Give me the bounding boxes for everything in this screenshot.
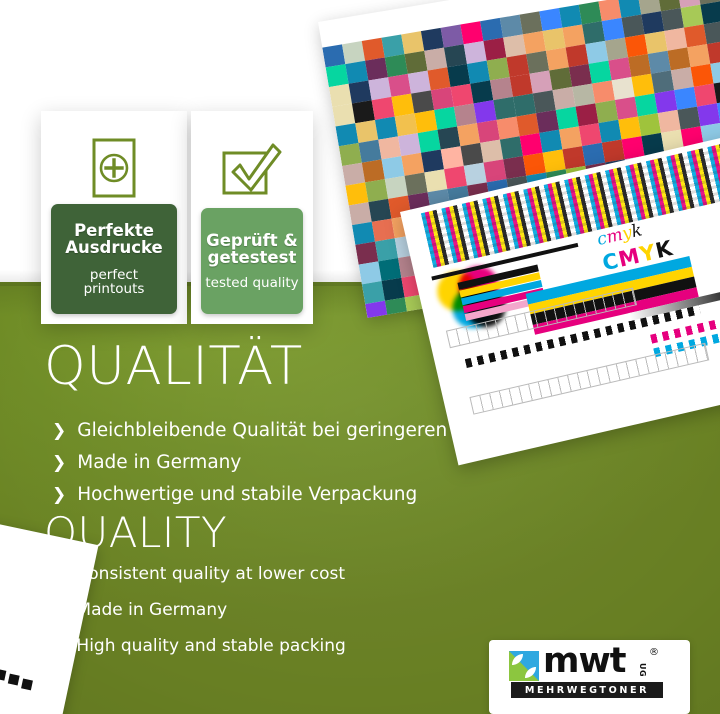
badge-subtitle-en: tested quality — [205, 276, 298, 290]
bl-k-box-1 — [0, 669, 6, 681]
bullet-de-label: Gleichbleibende Qualität bei geringeren … — [77, 422, 515, 441]
bullet-de-label: Hochwertige und stabile Verpackung — [77, 486, 417, 505]
bullet-de-item: ❯Hochwertige und stabile Verpackung — [52, 486, 516, 505]
chevron-right-icon: ❯ — [52, 487, 66, 504]
bullet-en-label: Made in Germany — [76, 602, 227, 619]
promo-banner: cmyk CMYK — [0, 0, 720, 714]
bullet-en-item: ❯Consistent quality at lower cost — [52, 566, 346, 583]
bullet-de-item: ❯Made in Germany — [52, 454, 516, 473]
color-swatch — [707, 41, 720, 64]
bl-k-box-2 — [8, 674, 20, 686]
badge-title-de: Perfekte Ausdrucke — [65, 222, 163, 256]
color-swatch — [700, 1, 720, 24]
bullet-en-item: ❯High quality and stable packing — [52, 638, 346, 655]
chevron-right-icon: ❯ — [52, 566, 65, 582]
chevron-right-icon: ❯ — [52, 455, 66, 472]
badge-subtitle-en-line1: tested quality — [205, 276, 298, 290]
badge-title-de-line2: getestest — [206, 249, 298, 266]
logo-legal-form: UG — [638, 663, 647, 677]
bl-k-box-3 — [21, 679, 33, 691]
chevron-right-icon: ❯ — [52, 638, 65, 654]
chevron-right-icon: ❯ — [52, 423, 66, 440]
badge-card-tested-quality[interactable]: Geprüft & getestest tested quality — [191, 111, 313, 324]
checkbox-check-icon — [191, 129, 313, 207]
color-swatch — [704, 21, 720, 44]
badge-subtitle-en-line1: perfect — [84, 268, 145, 282]
bullet-en-item: ❯Made in Germany — [52, 602, 346, 619]
badge-title-de-line1: Perfekte — [65, 222, 163, 239]
logo-tagline-bar: MEHRWEGTONER — [511, 682, 663, 698]
logo-inner: mwt ® UG MEHRWEGTONER — [509, 649, 669, 697]
headline-german: QUALITÄT — [44, 340, 303, 393]
headline-english: QUALITY — [44, 512, 227, 554]
mwt-pinwheel-mark — [509, 651, 539, 681]
badge-title-de-line1: Geprüft & — [206, 232, 298, 249]
logo-wordmark: mwt — [543, 644, 626, 679]
bullet-de-item: ❯Gleichbleibende Qualität bei geringeren… — [52, 422, 516, 441]
page-plus-icon — [41, 129, 187, 207]
badge-card-perfect-printouts[interactable]: Perfekte Ausdrucke perfect printouts — [41, 111, 187, 324]
bullet-list-english: ❯Consistent quality at lower cost❯Made i… — [52, 566, 346, 674]
badge-panel: Geprüft & getestest tested quality — [201, 208, 303, 314]
logo-tagline: MEHRWEGTONER — [525, 685, 649, 696]
bullet-en-label: Consistent quality at lower cost — [76, 566, 345, 583]
registered-symbol-icon: ® — [649, 647, 659, 658]
badge-panel: Perfekte Ausdrucke perfect printouts — [51, 204, 177, 314]
chevron-right-icon: ❯ — [52, 602, 65, 618]
badge-subtitle-en-line2: printouts — [84, 282, 145, 296]
bullet-de-label: Made in Germany — [77, 454, 241, 473]
mwt-logo[interactable]: mwt ® UG MEHRWEGTONER — [489, 640, 690, 714]
badge-title-de: Geprüft & getestest — [206, 232, 298, 266]
badge-title-de-line2: Ausdrucke — [65, 239, 163, 256]
bullet-list-german: ❯Gleichbleibende Qualität bei geringeren… — [52, 422, 516, 518]
bullet-en-label: High quality and stable packing — [76, 638, 345, 655]
badge-subtitle-en: perfect printouts — [84, 268, 145, 296]
